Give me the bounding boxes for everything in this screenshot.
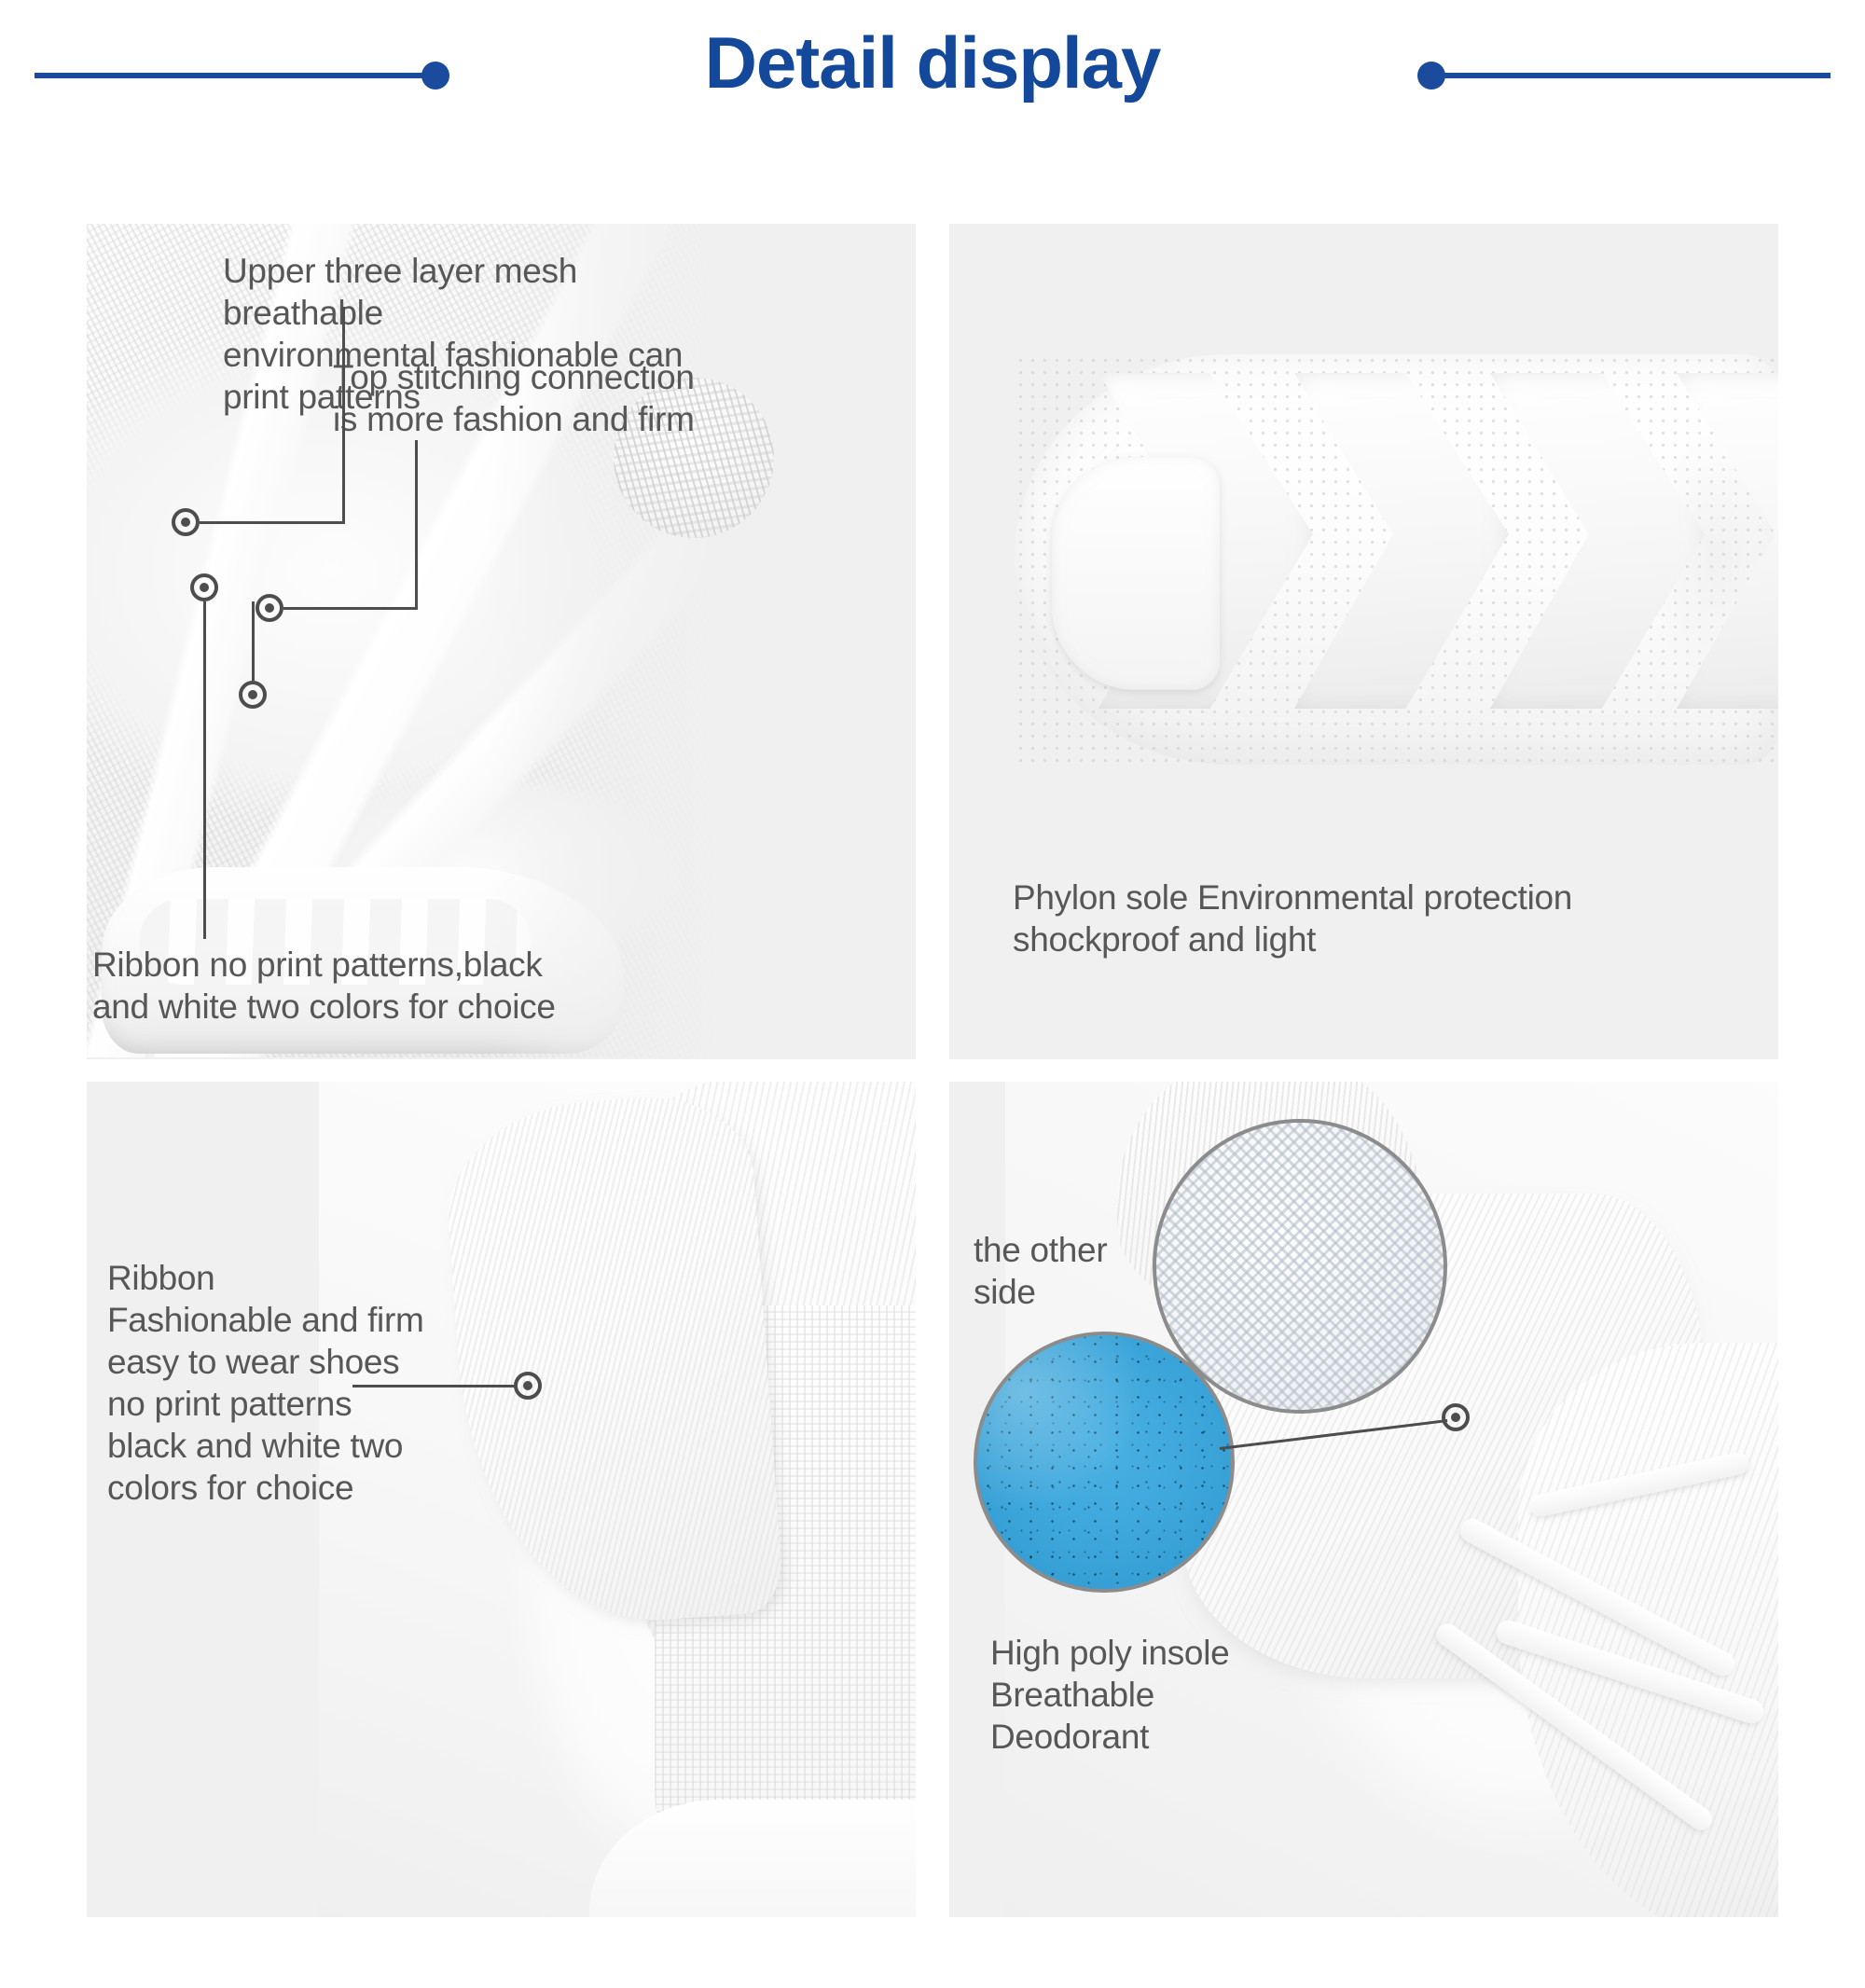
leader-line-ribbon-heel xyxy=(352,1385,516,1387)
insole-zoom-circle xyxy=(974,1332,1235,1593)
leader-line-stitching-v xyxy=(415,440,418,607)
header-rule-right xyxy=(1443,73,1830,78)
callout-marker-ribbon[interactable] xyxy=(190,573,218,601)
ribbon-callout-text: Ribbon no print patterns,black and white… xyxy=(92,944,615,1028)
outsole-heel-pad xyxy=(1052,457,1220,690)
header-dot-right xyxy=(1417,62,1445,90)
leader-line-upper-mesh-v xyxy=(342,307,345,521)
leader-line-upper-mesh-h xyxy=(200,521,345,524)
outsole-photo xyxy=(987,317,1778,821)
panel-phylon-sole: Phylon sole Environmental protection sho… xyxy=(949,224,1778,1059)
detail-panel-grid: Upper three layer mesh breathable enviro… xyxy=(87,224,1778,1917)
panel-ribbon-heel: Ribbon Fashionable and firm easy to wear… xyxy=(87,1082,916,1917)
callout-marker-midupper[interactable] xyxy=(239,681,267,709)
heel-sole-edge xyxy=(589,1800,916,1917)
page-title: Detail display xyxy=(0,11,1865,114)
leader-line-stitching-h xyxy=(283,607,418,610)
panel-high-poly-insole: the other side High poly insole Breathab… xyxy=(949,1082,1778,1917)
panel-upper-mesh: Upper three layer mesh breathable enviro… xyxy=(87,224,916,1059)
leader-line-ribbon-v xyxy=(203,601,206,939)
callout-marker-upper-mesh[interactable] xyxy=(172,508,200,536)
top-stitching-callout-text: Top stitching connection is more fashion… xyxy=(333,356,725,440)
ribbon-heel-callout-text: Ribbon Fashionable and firm easy to wear… xyxy=(107,1257,499,1509)
leader-line-midupper-v xyxy=(252,601,255,681)
phylon-sole-callout-text: Phylon sole Environmental protection sho… xyxy=(1013,877,1759,960)
insole-callout-text: High poly insole Breathable Deodorant xyxy=(990,1632,1382,1758)
callout-marker-insole[interactable] xyxy=(1442,1403,1470,1431)
callout-marker-ribbon-heel[interactable] xyxy=(514,1372,542,1400)
other-side-callout-text: the other side xyxy=(974,1229,1197,1313)
page-header: Detail display xyxy=(0,0,1865,147)
callout-marker-stitching[interactable] xyxy=(256,594,283,622)
